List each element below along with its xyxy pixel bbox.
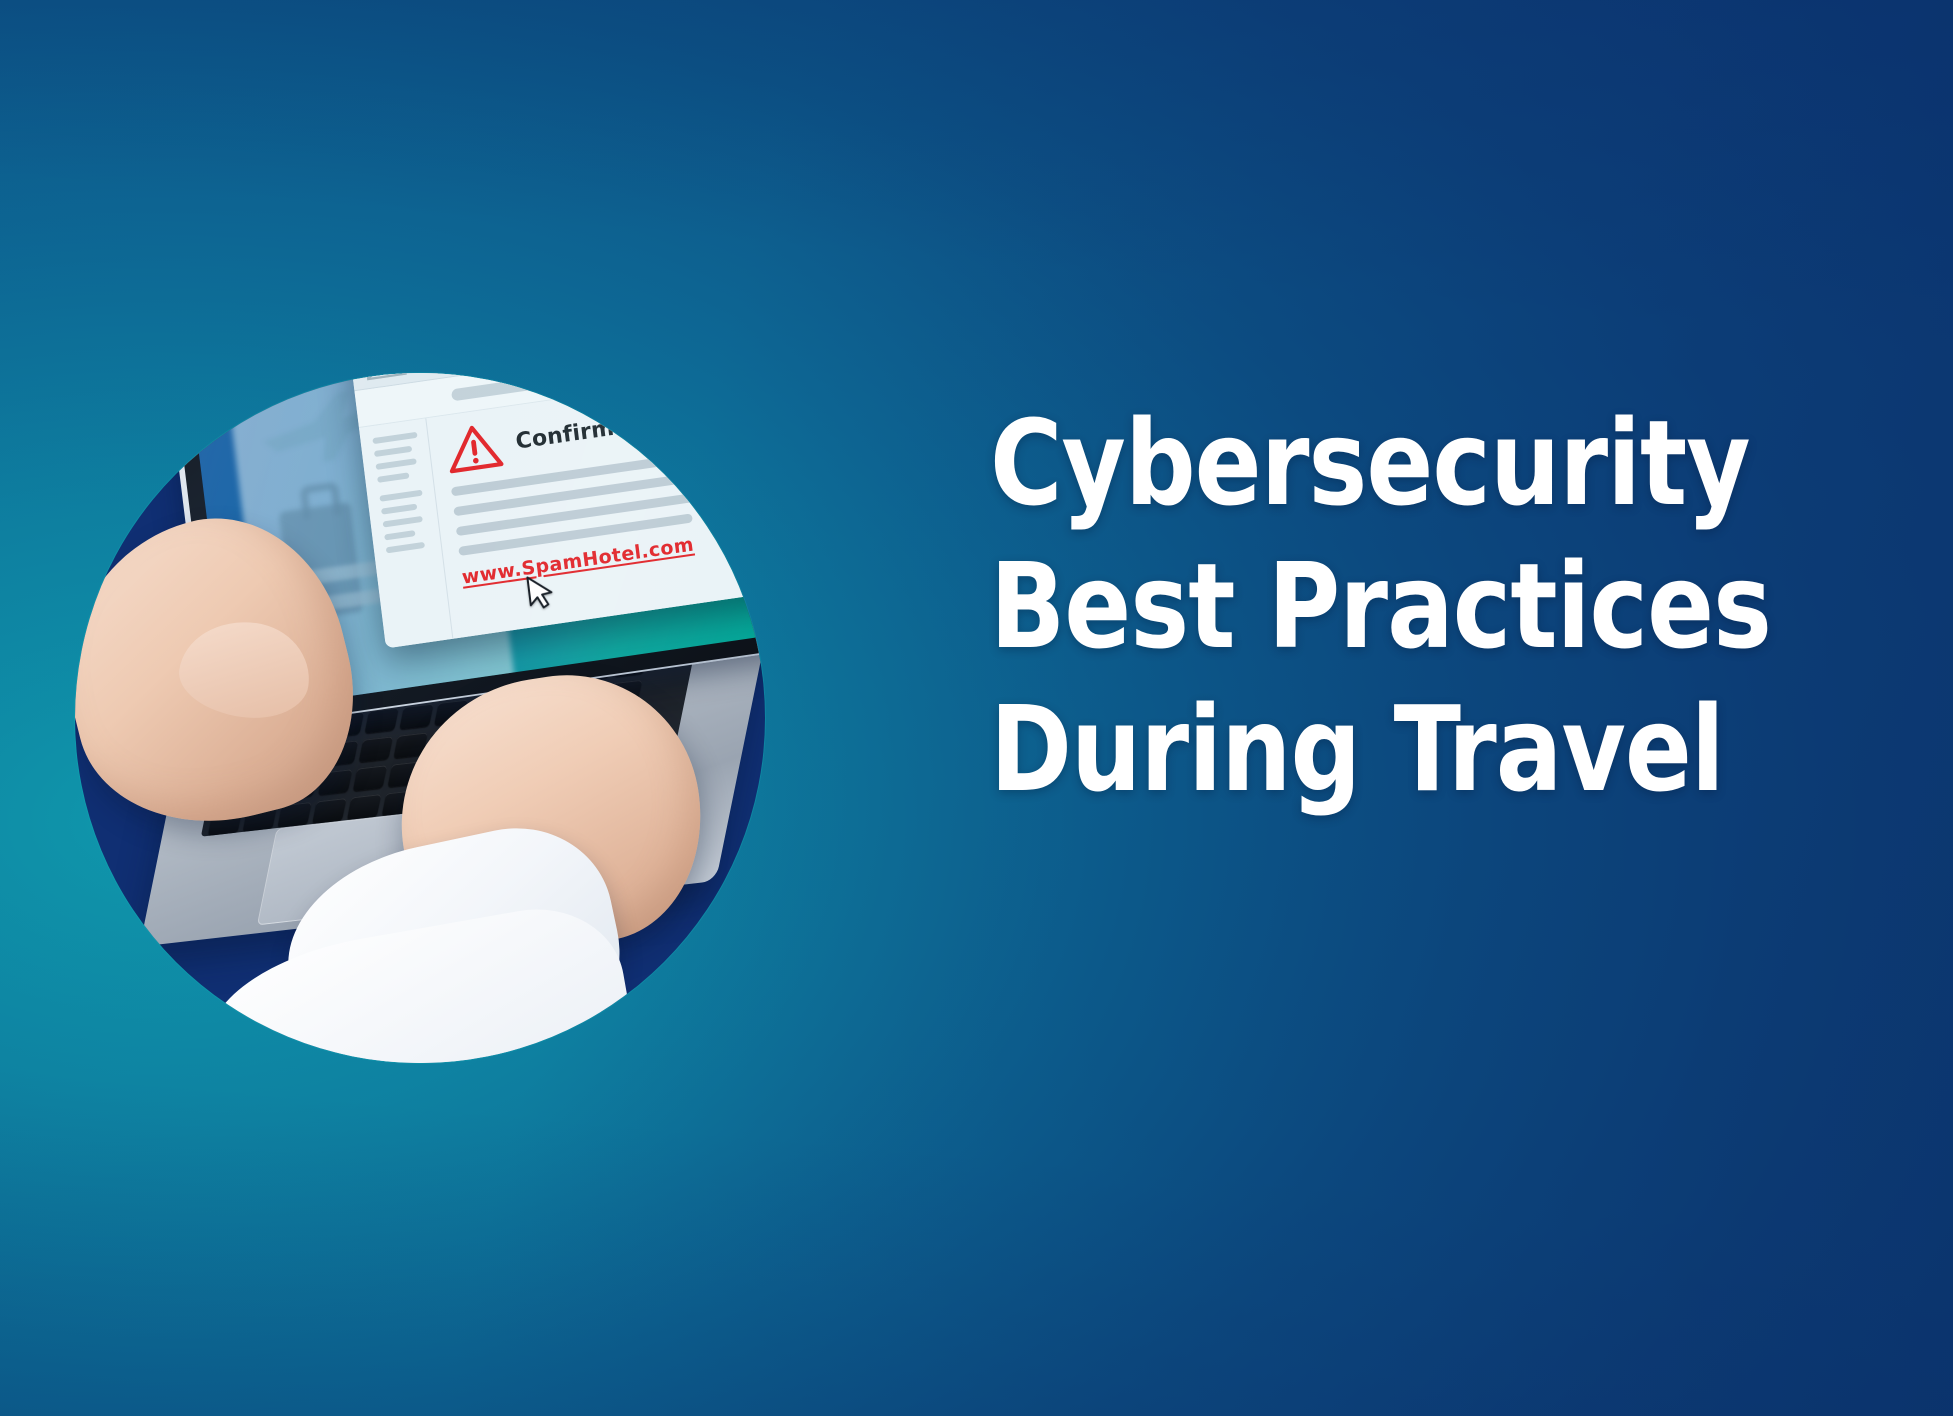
headline-line-2: Best Practices (990, 535, 1827, 678)
banner-canvas: Confirm Reservation www.SpamHotel.com (0, 0, 1953, 1416)
page-title: Cybersecurity Best Practices During Trav… (990, 392, 1890, 820)
navy-circle-backdrop (75, 373, 765, 1063)
headline-line-1: Cybersecurity (990, 392, 1827, 535)
headline-line-3: During Travel (990, 678, 1827, 821)
